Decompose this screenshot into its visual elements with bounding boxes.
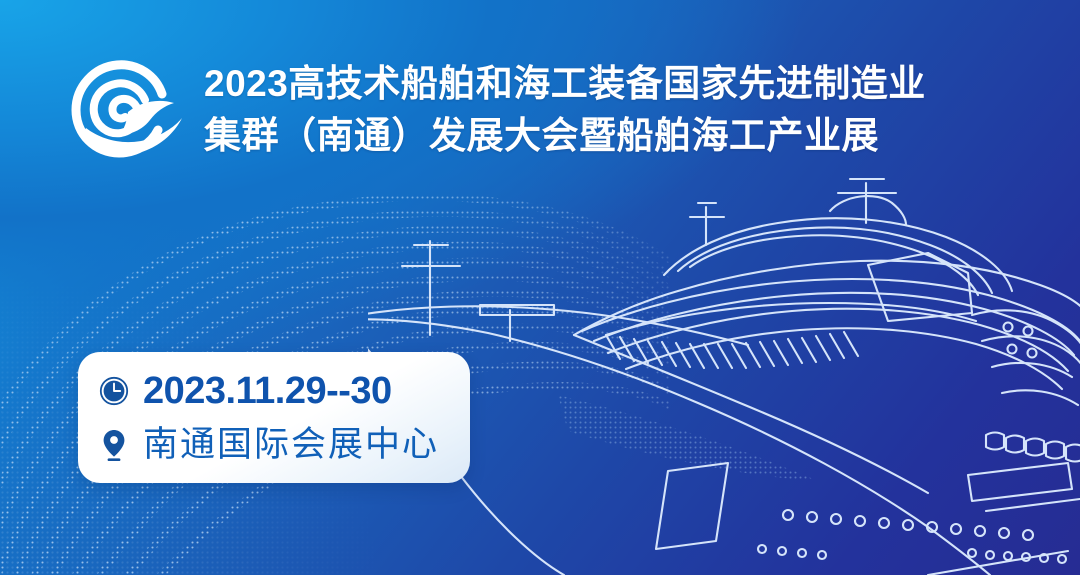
cruise-ship-line-art bbox=[368, 145, 1080, 575]
banner-header: 2023高技术船舶和海工装备国家先进制造业 集群（南通）发展大会暨船舶海工产业展 bbox=[70, 58, 926, 162]
event-location: 南通国际会展中心 bbox=[143, 427, 439, 462]
clock-icon bbox=[98, 374, 130, 408]
event-banner: 2023高技术船舶和海工装备国家先进制造业 集群（南通）发展大会暨船舶海工产业展… bbox=[0, 0, 1080, 575]
event-info-card: 2023.11.29--30 南通国际会展中心 bbox=[78, 352, 470, 483]
event-date: 2023.11.29--30 bbox=[143, 372, 392, 410]
title-line-2: 集群（南通）发展大会暨船舶海工产业展 bbox=[204, 111, 926, 161]
event-date-row: 2023.11.29--30 bbox=[98, 364, 470, 418]
title-line-1: 2023高技术船舶和海工装备国家先进制造业 bbox=[204, 59, 926, 109]
event-location-row: 南通国际会展中心 bbox=[98, 418, 470, 472]
location-pin-icon bbox=[98, 428, 130, 462]
wave-swirl-logo-icon bbox=[70, 58, 182, 162]
page-title: 2023高技术船舶和海工装备国家先进制造业 集群（南通）发展大会暨船舶海工产业展 bbox=[204, 59, 926, 161]
